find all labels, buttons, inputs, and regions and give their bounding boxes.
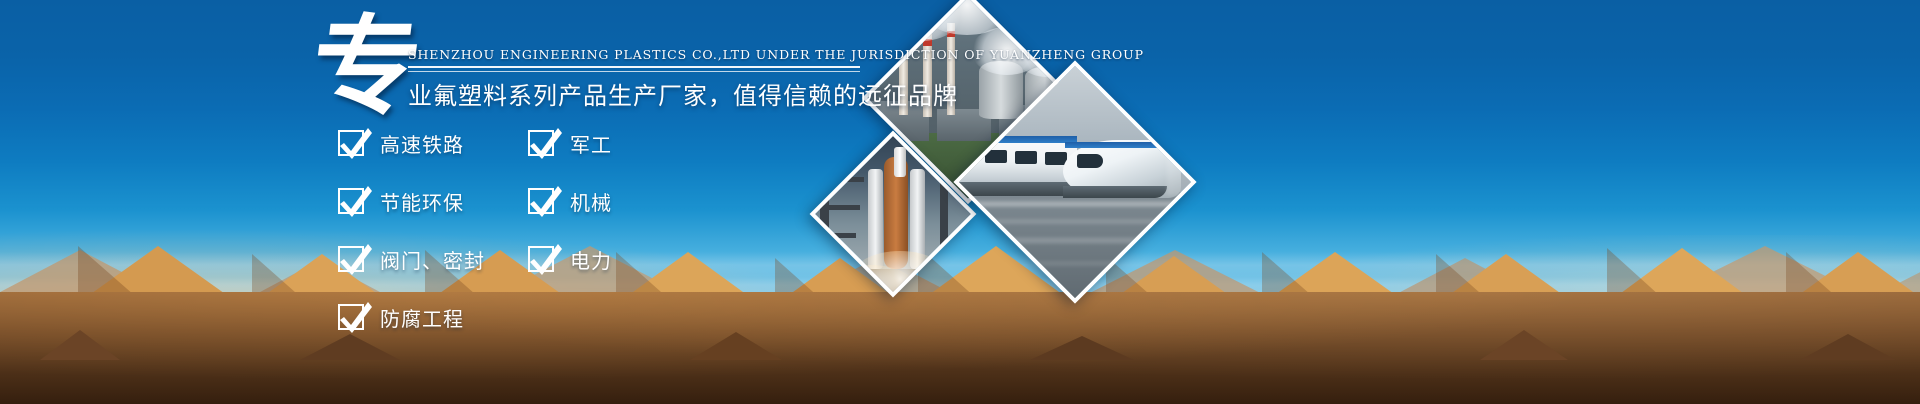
divider-rules: [408, 66, 860, 72]
feature-item[interactable]: 阀门、密封: [338, 238, 485, 280]
feature-label: 电力: [570, 245, 612, 274]
feature-label: 军工: [570, 129, 612, 158]
company-english-name: SHENZHOU ENGINEERING PLASTICS CO.,LTD UN…: [408, 47, 1144, 62]
feature-label: 高速铁路: [380, 129, 464, 158]
check-icon: [528, 130, 554, 156]
feature-list-right: 军工 机械 电力: [528, 122, 612, 296]
feature-list-left: 高速铁路 节能环保 阀门、密封 防腐工程: [338, 122, 485, 354]
divider-line-thin: [408, 71, 860, 72]
feature-label: 阀门、密封: [380, 245, 485, 274]
check-icon: [338, 246, 364, 272]
divider-line-thick: [408, 66, 860, 68]
slogan-text: 业氟塑料系列产品生产厂家，值得信赖的远征品牌: [408, 76, 958, 111]
check-icon: [338, 130, 364, 156]
feature-item[interactable]: 军工: [528, 122, 612, 164]
feature-item[interactable]: 机械: [528, 180, 612, 222]
feature-item[interactable]: 防腐工程: [338, 296, 485, 338]
check-icon: [528, 188, 554, 214]
feature-label: 机械: [570, 187, 612, 216]
check-icon: [338, 188, 364, 214]
feature-label: 防腐工程: [380, 303, 464, 332]
feature-item[interactable]: 节能环保: [338, 180, 485, 222]
check-icon: [338, 304, 364, 330]
promotional-banner: 专 SHENZHOU ENGINEERING PLASTICS CO.,LTD …: [0, 0, 1920, 404]
feature-label: 节能环保: [380, 187, 464, 216]
foreground-rocks: [0, 310, 1920, 360]
check-icon: [528, 246, 554, 272]
feature-item[interactable]: 高速铁路: [338, 122, 485, 164]
feature-item[interactable]: 电力: [528, 238, 612, 280]
